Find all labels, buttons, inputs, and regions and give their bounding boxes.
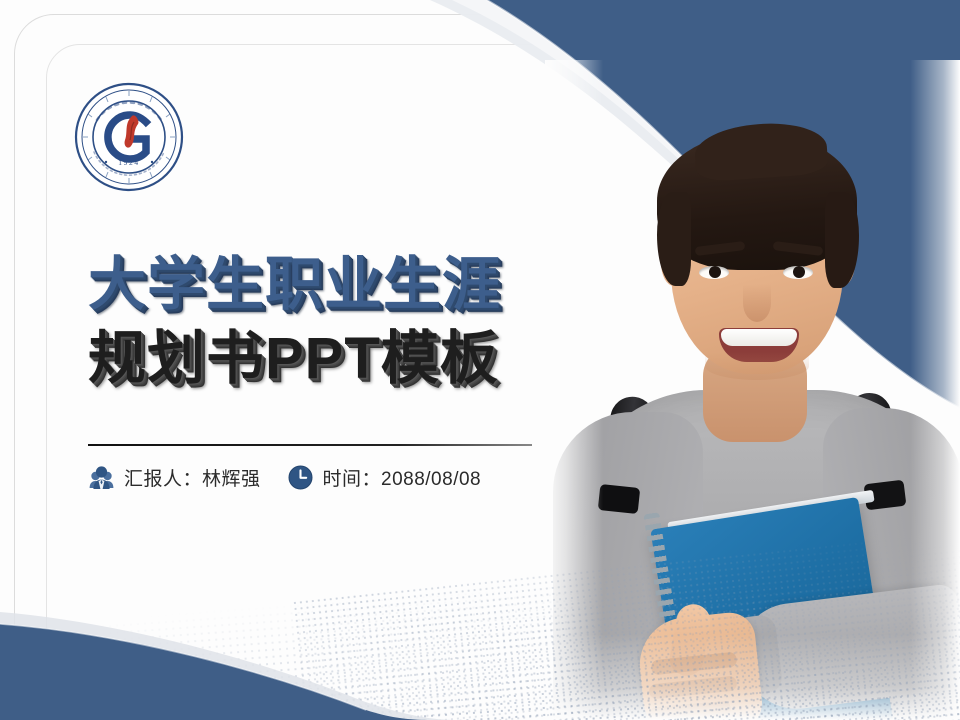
hair-tuft (693, 119, 828, 182)
date-label: 时间：2088/08/08 (323, 464, 482, 491)
nose (743, 284, 771, 322)
date-item: 时间：2088/08/08 (287, 464, 482, 491)
chin (705, 352, 809, 380)
clock-icon (287, 464, 314, 491)
pupil-right (793, 266, 805, 278)
hair-side-left (657, 192, 691, 286)
teeth (721, 329, 797, 346)
university-emblem: 1924 (74, 82, 184, 192)
presentation-cover-slide: 1924 大学生职业生涯 规划书PPT模板 汇报人：林辉强 (0, 0, 960, 720)
title-line-1: 大学生职业生涯 (88, 248, 558, 322)
hair-side-right (825, 192, 859, 288)
people-icon (88, 464, 115, 491)
title-line-2: 规划书PPT模板 (88, 322, 558, 396)
presenter-label: 汇报人：林辉强 (124, 464, 261, 491)
svg-text:1924: 1924 (118, 158, 139, 167)
title-divider (88, 444, 532, 446)
page-title: 大学生职业生涯 规划书PPT模板 (88, 248, 558, 396)
pupil-left (709, 266, 721, 278)
presenter-item: 汇报人：林辉强 (88, 464, 261, 491)
meta-row: 汇报人：林辉强 时间：2088/08/08 (88, 464, 481, 491)
